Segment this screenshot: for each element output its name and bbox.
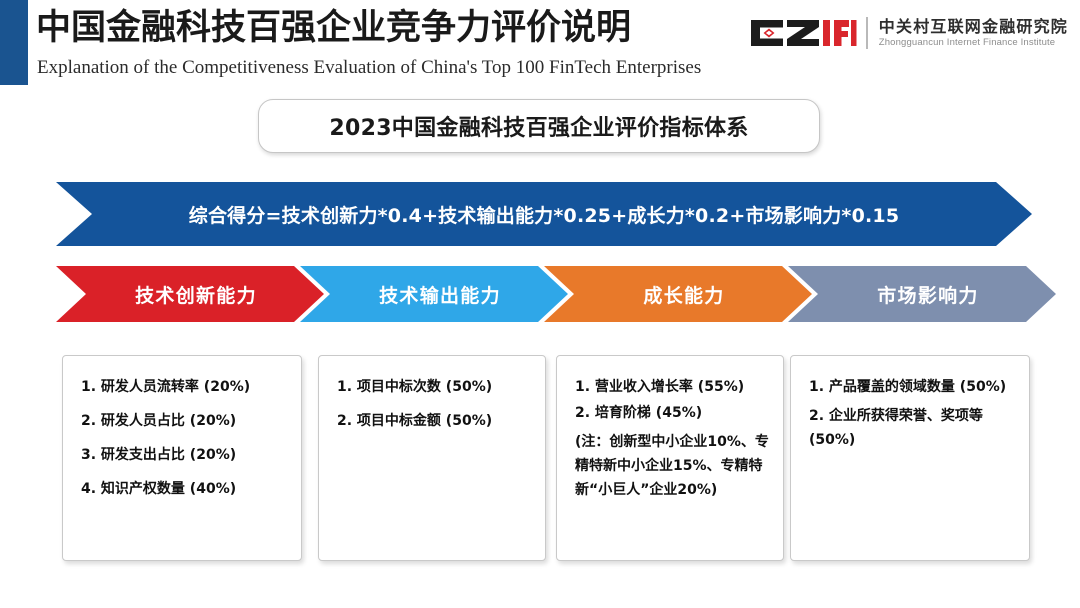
logo-divider bbox=[866, 17, 868, 49]
header-accent-bar bbox=[0, 0, 28, 85]
category-chevron-market-influence: 市场影响力 bbox=[788, 266, 1056, 322]
indicator-item: 2. 项目中标金额 (50%) bbox=[337, 412, 531, 432]
category-chevron-label: 市场影响力 bbox=[865, 281, 979, 308]
indicator-item: 1. 营业收入增长率 (55%) bbox=[575, 378, 769, 398]
logo-name-en: Zhongguancun Internet Finance Institute bbox=[879, 38, 1068, 48]
page-header: 中国金融科技百强企业竞争力评价说明 Explanation of the Com… bbox=[0, 0, 1080, 88]
indicator-item: 2. 研发人员占比 (20%) bbox=[81, 412, 287, 432]
page-title: 中国金融科技百强企业竞争力评价说明 bbox=[36, 8, 631, 48]
indicator-item: 1. 研发人员流转率 (20%) bbox=[81, 378, 287, 398]
category-chevron-technology-output: 技术输出能力 bbox=[300, 266, 568, 322]
indicator-note: (注：创新型中小企业10%、专精特新中小企业15%、专精特新“小巨人”企业20%… bbox=[575, 430, 769, 502]
indicator-item: 1. 产品覆盖的领域数量 (50%) bbox=[809, 378, 1015, 398]
category-chevron-label: 技术输出能力 bbox=[367, 281, 501, 308]
indicator-card-technology-output: 1. 项目中标次数 (50%) 2. 项目中标金额 (50%) bbox=[318, 355, 546, 561]
indicator-item: 1. 项目中标次数 (50%) bbox=[337, 378, 531, 398]
composite-score-formula-banner: 综合得分=技术创新力*0.4+技术输出能力*0.25+成长力*0.2+市场影响力… bbox=[56, 182, 1032, 246]
category-chevron-row: 技术创新能力 技术输出能力 成长能力 市场影响力 bbox=[0, 266, 1080, 322]
indicator-system-title-box: 2023中国金融科技百强企业评价指标体系 bbox=[258, 99, 820, 153]
category-chevron-label: 技术创新能力 bbox=[123, 281, 257, 308]
indicator-system-title-text: 2023中国金融科技百强企业评价指标体系 bbox=[329, 110, 748, 142]
logo-name-cn: 中关村互联网金融研究院 bbox=[879, 18, 1068, 36]
indicator-item: 4. 知识产权数量 (40%) bbox=[81, 480, 287, 500]
indicator-item: 3. 研发支出占比 (20%) bbox=[81, 446, 287, 466]
institute-logo: 中关村互联网金融研究院 Zhongguancun Internet Financ… bbox=[749, 12, 1068, 54]
indicator-card-market-influence: 1. 产品覆盖的领域数量 (50%) 2. 企业所获得荣誉、奖项等 (50%) bbox=[790, 355, 1030, 561]
category-chevron-label: 成长能力 bbox=[631, 281, 724, 308]
indicator-card-technology-innovation: 1. 研发人员流转率 (20%) 2. 研发人员占比 (20%) 3. 研发支出… bbox=[62, 355, 302, 561]
indicator-card-growth: 1. 营业收入增长率 (55%) 2. 培育阶梯 (45%) (注：创新型中小企… bbox=[556, 355, 784, 561]
composite-score-formula-text: 综合得分=技术创新力*0.4+技术输出能力*0.25+成长力*0.2+市场影响力… bbox=[189, 201, 900, 228]
indicator-item: 2. 培育阶梯 (45%) bbox=[575, 404, 769, 424]
czifi-logomark-icon bbox=[749, 18, 857, 48]
page-subtitle: Explanation of the Competitiveness Evalu… bbox=[37, 57, 701, 79]
indicator-item: 2. 企业所获得荣誉、奖项等 (50%) bbox=[809, 404, 1015, 452]
logo-text-block: 中关村互联网金融研究院 Zhongguancun Internet Financ… bbox=[879, 18, 1068, 48]
category-chevron-growth: 成长能力 bbox=[544, 266, 812, 322]
category-chevron-technology-innovation: 技术创新能力 bbox=[56, 266, 324, 322]
